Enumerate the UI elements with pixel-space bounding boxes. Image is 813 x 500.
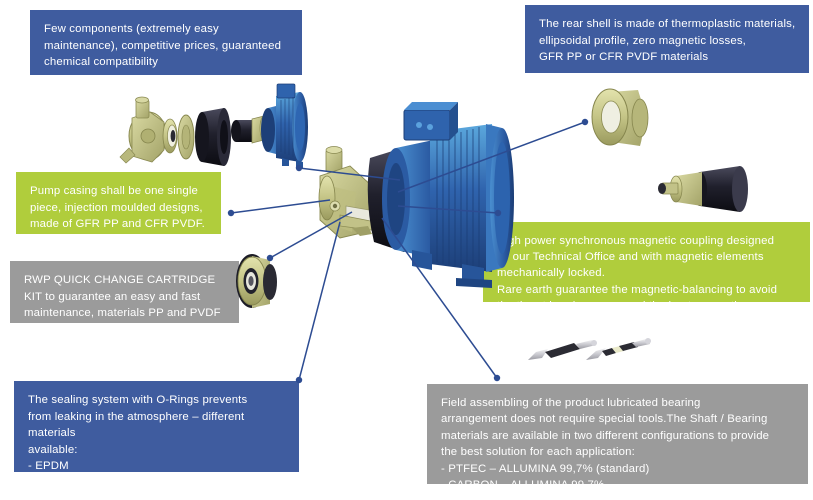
leader-cartridge-kit bbox=[270, 212, 352, 258]
leader-shaft-bearing bbox=[382, 218, 497, 378]
leader-lines bbox=[0, 0, 813, 500]
leader-dot-pump-casing bbox=[228, 210, 234, 216]
leader-components bbox=[299, 168, 400, 180]
leader-magnetic-coupling bbox=[398, 206, 498, 213]
leader-dot-cartridge-kit bbox=[267, 255, 273, 261]
leader-dot-magnetic-coupling bbox=[495, 210, 501, 216]
leader-sealing bbox=[299, 222, 340, 380]
leader-rear-shell bbox=[398, 122, 585, 192]
leader-dot-rear-shell bbox=[582, 119, 588, 125]
leader-dot-shaft-bearing bbox=[494, 375, 500, 381]
leader-pump-casing bbox=[231, 200, 330, 213]
diagram-canvas: Few components (extremely easy maintenan… bbox=[0, 0, 813, 500]
leader-dot-sealing bbox=[296, 377, 302, 383]
leader-dot-components bbox=[296, 165, 302, 171]
